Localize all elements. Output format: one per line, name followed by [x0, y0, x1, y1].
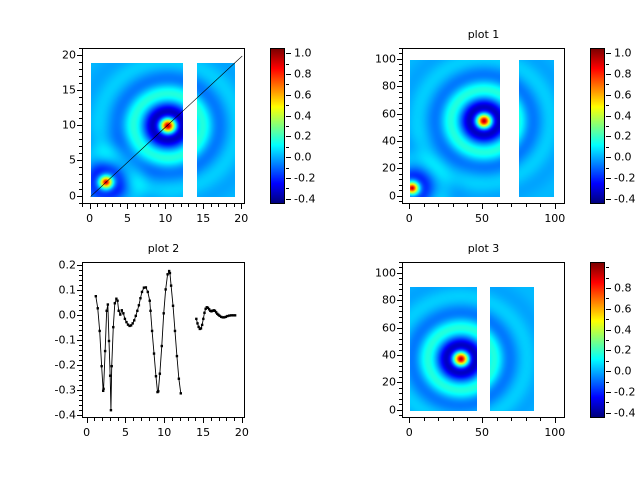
- colorbar-tick-minor: [606, 402, 609, 403]
- y-tick-minor: [79, 189, 82, 190]
- y-tick-label: 5: [40, 154, 76, 167]
- x-tick-label: 0: [86, 212, 93, 225]
- x-tick-minor: [211, 204, 212, 207]
- heatmap-panel: [91, 63, 183, 197]
- y-tick: [397, 300, 402, 301]
- x-tick: [241, 204, 242, 209]
- data-point-marker: [174, 330, 176, 332]
- colorbar-tick: [286, 116, 291, 117]
- x-tick: [555, 204, 556, 209]
- data-point-marker: [169, 272, 171, 274]
- y-tick: [77, 265, 82, 266]
- x-tick-minor: [467, 418, 468, 421]
- x-tick: [555, 418, 556, 423]
- data-point-marker: [203, 312, 205, 314]
- x-tick-minor: [105, 204, 106, 207]
- y-tick-minor: [79, 300, 82, 301]
- data-point-marker: [176, 355, 178, 357]
- x-tick-minor: [135, 204, 136, 207]
- x-tick: [87, 418, 88, 423]
- x-tick-label: 100: [544, 426, 565, 439]
- y-tick-minor: [79, 83, 82, 84]
- x-tick-minor: [453, 418, 454, 421]
- colorbar-tick-label: 0.8: [294, 68, 312, 81]
- colorbar-tick: [606, 136, 611, 137]
- x-tick: [409, 418, 410, 423]
- colorbar-tick-label: -0.4: [614, 192, 635, 205]
- colorbar-tick-minor: [606, 168, 609, 169]
- colorbar-tick-minor: [286, 84, 289, 85]
- colorbar-tick: [606, 350, 611, 351]
- y-tick-label: 40: [360, 135, 396, 148]
- x-tick-minor: [82, 204, 83, 207]
- colorbar-tick-minor: [606, 64, 609, 65]
- y-tick-minor: [399, 81, 402, 82]
- colorbar-tick: [606, 178, 611, 179]
- y-tick: [77, 365, 82, 366]
- data-point-marker: [98, 330, 100, 332]
- y-tick-minor: [399, 404, 402, 405]
- x-tick-label: 10: [157, 426, 171, 439]
- x-tick-minor: [211, 418, 212, 421]
- y-tick-minor: [79, 400, 82, 401]
- colorbar-plot1: [590, 48, 605, 204]
- x-tick-minor: [438, 204, 439, 207]
- x-tick-minor: [97, 204, 98, 207]
- y-tick-minor: [79, 153, 82, 154]
- y-tick-minor: [399, 262, 402, 263]
- y-tick-minor: [399, 108, 402, 109]
- y-tick-minor: [79, 48, 82, 49]
- data-point-marker: [178, 378, 180, 380]
- x-tick: [125, 418, 126, 423]
- y-tick-label: 20: [360, 162, 396, 175]
- y-tick-minor: [399, 393, 402, 394]
- colorbar-plot3: [590, 262, 605, 418]
- y-tick-label: 80: [360, 294, 396, 307]
- x-tick: [164, 418, 165, 423]
- x-tick-minor: [540, 418, 541, 421]
- x-tick-minor: [226, 204, 227, 207]
- x-tick-label: 5: [124, 212, 131, 225]
- y-tick-minor: [79, 325, 82, 326]
- x-tick-minor: [112, 204, 113, 207]
- y-tick-minor: [399, 333, 402, 334]
- y-tick-label: 20: [360, 376, 396, 389]
- y-tick-minor: [79, 310, 82, 311]
- colorbar-tick: [606, 116, 611, 117]
- colorbar-tick: [286, 53, 291, 54]
- y-tick-minor: [399, 371, 402, 372]
- x-tick-label: 20: [235, 426, 249, 439]
- x-tick-label: 10: [158, 212, 172, 225]
- data-point-marker: [157, 390, 159, 392]
- y-tick-label: 0: [40, 189, 76, 202]
- y-tick-minor: [399, 388, 402, 389]
- colorbar-tick-minor: [606, 382, 609, 383]
- y-tick-label: -0.4: [40, 409, 76, 422]
- heatmap-panel: [410, 60, 500, 197]
- colorbar-tick-label: 0.8: [614, 68, 632, 81]
- colorbar-tick-label: 0.4: [614, 323, 632, 336]
- y-tick-label: 60: [360, 321, 396, 334]
- colorbar-tick-label: 1.0: [614, 47, 632, 60]
- data-point-marker: [119, 313, 121, 315]
- data-point-marker: [110, 409, 112, 411]
- y-tick-minor: [399, 103, 402, 104]
- colorbar-tick-minor: [606, 105, 609, 106]
- x-tick: [90, 204, 91, 209]
- y-tick-label: 60: [360, 107, 396, 120]
- y-tick-minor: [399, 267, 402, 268]
- y-tick-minor: [399, 377, 402, 378]
- y-tick: [397, 273, 402, 274]
- y-tick-label: 0: [360, 189, 396, 202]
- colorbar-tick: [606, 74, 611, 75]
- y-tick: [77, 290, 82, 291]
- data-point-marker: [172, 305, 174, 307]
- data-point-marker: [138, 304, 140, 306]
- y-tick-minor: [79, 111, 82, 112]
- colorbar-tick: [606, 157, 611, 158]
- colorbar-tick-label: 0.4: [614, 109, 632, 122]
- x-tick-minor: [150, 204, 151, 207]
- y-tick-minor: [399, 284, 402, 285]
- y-tick-minor: [79, 69, 82, 70]
- data-point-marker: [149, 310, 151, 312]
- data-point-marker: [135, 315, 137, 317]
- y-tick-minor: [79, 275, 82, 276]
- axes-plot0: [82, 48, 245, 204]
- data-point-marker: [200, 327, 202, 329]
- colorbar-tick-label: -0.2: [294, 172, 315, 185]
- y-tick-minor: [399, 179, 402, 180]
- x-tick: [127, 204, 128, 209]
- data-point-marker: [109, 375, 111, 377]
- x-tick-minor: [181, 204, 182, 207]
- colorbar-tick: [606, 199, 611, 200]
- y-tick-minor: [399, 185, 402, 186]
- colorbar-tick-minor: [286, 126, 289, 127]
- data-point-marker: [118, 310, 120, 312]
- y-tick-minor: [79, 280, 82, 281]
- heatmap-panel: [490, 287, 534, 411]
- y-tick-label: 20: [40, 49, 76, 62]
- y-tick-minor: [79, 345, 82, 346]
- x-tick-label: 0: [406, 212, 413, 225]
- y-tick-minor: [399, 339, 402, 340]
- y-tick-minor: [399, 157, 402, 158]
- x-tick-minor: [438, 418, 439, 421]
- x-tick-label: 0: [83, 426, 90, 439]
- y-tick-minor: [399, 289, 402, 290]
- x-tick-minor: [141, 418, 142, 421]
- x-tick-minor: [234, 204, 235, 207]
- colorbar-tick-minor: [606, 126, 609, 127]
- y-tick: [397, 355, 402, 356]
- data-point-marker: [196, 322, 198, 324]
- y-tick-minor: [399, 322, 402, 323]
- colorbar-tick: [286, 157, 291, 158]
- y-tick-minor: [399, 147, 402, 148]
- x-tick-minor: [180, 418, 181, 421]
- y-tick: [77, 90, 82, 91]
- data-point-marker: [234, 314, 236, 316]
- data-point-marker: [105, 310, 107, 312]
- data-point-marker: [121, 309, 123, 311]
- data-point-marker: [125, 321, 127, 323]
- x-tick-label: 100: [544, 212, 565, 225]
- x-tick-minor: [467, 204, 468, 207]
- x-tick-minor: [511, 418, 512, 421]
- y-tick-label: 10: [40, 119, 76, 132]
- x-tick: [242, 418, 243, 423]
- y-tick: [77, 390, 82, 391]
- colorbar-tick-label: 0.0: [614, 365, 632, 378]
- y-tick-minor: [399, 190, 402, 191]
- y-tick: [397, 328, 402, 329]
- line-series-group: [83, 263, 245, 418]
- y-tick: [77, 55, 82, 56]
- y-tick-minor: [399, 92, 402, 93]
- colorbar-tick-minor: [606, 84, 609, 85]
- x-tick-label: 20: [234, 212, 248, 225]
- colorbar-tick: [286, 136, 291, 137]
- y-tick: [77, 196, 82, 197]
- data-point-marker: [153, 352, 155, 354]
- data-point-marker: [201, 324, 203, 326]
- y-tick: [397, 168, 402, 169]
- colorbar-tick: [606, 413, 611, 414]
- colorbar-tick: [606, 288, 611, 289]
- y-tick-label: -0.1: [40, 334, 76, 347]
- x-tick-minor: [157, 418, 158, 421]
- colorbar-tick-minor: [286, 147, 289, 148]
- heatmap-panel: [197, 63, 235, 197]
- y-tick-minor: [399, 119, 402, 120]
- x-tick-minor: [424, 204, 425, 207]
- x-tick-minor: [234, 418, 235, 421]
- data-point-marker: [170, 284, 172, 286]
- y-tick-label: 0.1: [40, 283, 76, 296]
- colorbar-tick-minor: [286, 168, 289, 169]
- data-point-marker: [95, 295, 97, 297]
- data-point-marker: [139, 297, 141, 299]
- colorbar-tick-minor: [286, 105, 289, 106]
- colorbar-plot0: [270, 48, 285, 204]
- data-point-marker: [104, 350, 106, 352]
- data-point-marker: [111, 365, 113, 367]
- y-tick-minor: [79, 270, 82, 271]
- y-tick: [397, 59, 402, 60]
- colorbar-tick-minor: [286, 64, 289, 65]
- colorbar-tick-label: 0.2: [614, 344, 632, 357]
- colorbar-tick-label: 1.0: [294, 47, 312, 60]
- data-point-marker: [180, 392, 182, 394]
- y-tick-minor: [399, 311, 402, 312]
- axes-plot1: [402, 48, 565, 204]
- y-tick-label: 0: [360, 403, 396, 416]
- data-point-marker: [133, 319, 135, 321]
- x-tick-minor: [94, 418, 95, 421]
- data-point-marker: [102, 388, 104, 390]
- y-tick-minor: [79, 174, 82, 175]
- x-tick-minor: [196, 204, 197, 207]
- y-tick-label: 0.0: [40, 308, 76, 321]
- colorbar-tick-minor: [286, 188, 289, 189]
- colorbar-tick: [606, 309, 611, 310]
- colorbar-tick: [606, 95, 611, 96]
- y-tick: [77, 340, 82, 341]
- colorbar-tick: [286, 95, 291, 96]
- x-tick-minor: [453, 204, 454, 207]
- colorbar-tick-minor: [606, 278, 609, 279]
- y-tick-minor: [399, 136, 402, 137]
- y-tick-minor: [399, 366, 402, 367]
- y-tick-minor: [79, 118, 82, 119]
- data-point-marker: [147, 291, 149, 293]
- x-tick-minor: [526, 204, 527, 207]
- y-tick-minor: [399, 201, 402, 202]
- colorbar-tick: [606, 392, 611, 393]
- y-tick-minor: [79, 285, 82, 286]
- x-tick: [482, 418, 483, 423]
- x-tick-label: 0: [406, 426, 413, 439]
- y-tick: [77, 415, 82, 416]
- y-tick-minor: [79, 167, 82, 168]
- y-tick-minor: [399, 97, 402, 98]
- x-tick-minor: [158, 204, 159, 207]
- x-tick-label: 5: [122, 426, 129, 439]
- colorbar-tick-minor: [606, 188, 609, 189]
- y-tick-minor: [79, 97, 82, 98]
- data-point-marker: [166, 273, 168, 275]
- data-point-marker: [107, 303, 109, 305]
- y-tick-label: -0.3: [40, 384, 76, 397]
- data-point-marker: [136, 310, 138, 312]
- colorbar-tick-label: 0.2: [294, 130, 312, 143]
- x-tick-minor: [102, 418, 103, 421]
- y-tick-minor: [399, 48, 402, 49]
- data-point-marker: [114, 302, 116, 304]
- x-tick-label: 50: [475, 212, 489, 225]
- x-tick-label: 50: [475, 426, 489, 439]
- y-tick-minor: [79, 139, 82, 140]
- x-tick-minor: [143, 204, 144, 207]
- data-point-marker: [159, 373, 161, 375]
- axes-plot2: [82, 262, 245, 418]
- colorbar-tick-label: -0.2: [614, 172, 635, 185]
- data-point-marker: [131, 322, 133, 324]
- colorbar-tick-label: 0.2: [614, 130, 632, 143]
- data-point-marker: [112, 326, 114, 328]
- y-tick-minor: [399, 399, 402, 400]
- y-tick-label: 100: [360, 52, 396, 65]
- colorbar-tick: [286, 199, 291, 200]
- plot-title-plot1: plot 1: [402, 28, 565, 41]
- y-tick-minor: [79, 335, 82, 336]
- colorbar-tick-minor: [606, 319, 609, 320]
- y-tick-minor: [399, 361, 402, 362]
- y-tick-minor: [399, 278, 402, 279]
- y-tick-minor: [79, 375, 82, 376]
- colorbar-tick-label: -0.4: [294, 192, 315, 205]
- x-tick-minor: [173, 204, 174, 207]
- y-tick-minor: [399, 174, 402, 175]
- plot-title-plot2: plot 2: [82, 242, 245, 255]
- y-tick-minor: [399, 350, 402, 351]
- x-tick-minor: [511, 204, 512, 207]
- data-point-marker: [116, 300, 118, 302]
- y-tick-minor: [79, 295, 82, 296]
- y-tick-minor: [399, 75, 402, 76]
- colorbar-tick: [286, 178, 291, 179]
- y-tick-label: 15: [40, 84, 76, 97]
- y-tick-minor: [79, 370, 82, 371]
- x-tick-minor: [120, 204, 121, 207]
- y-tick-label: 40: [360, 349, 396, 362]
- x-tick-minor: [110, 418, 111, 421]
- x-tick: [482, 204, 483, 209]
- x-tick: [409, 204, 410, 209]
- x-tick-minor: [133, 418, 134, 421]
- x-tick-minor: [195, 418, 196, 421]
- y-tick-minor: [399, 125, 402, 126]
- data-point-marker: [124, 318, 126, 320]
- x-tick-minor: [149, 418, 150, 421]
- data-point-marker: [161, 345, 163, 347]
- colorbar-tick-minor: [606, 340, 609, 341]
- y-tick-minor: [79, 405, 82, 406]
- colorbar-tick-minor: [606, 361, 609, 362]
- y-tick-minor: [399, 70, 402, 71]
- colorbar-tick: [606, 371, 611, 372]
- y-tick-minor: [79, 410, 82, 411]
- y-tick: [397, 382, 402, 383]
- y-tick-minor: [79, 320, 82, 321]
- x-tick-minor: [218, 204, 219, 207]
- plot-title-plot3: plot 3: [402, 242, 565, 255]
- y-tick: [397, 86, 402, 87]
- figure-canvas: 0510152005101520-0.4-0.20.00.20.40.60.81…: [0, 0, 640, 480]
- x-tick-label: 15: [196, 212, 210, 225]
- y-tick-label: -0.2: [40, 359, 76, 372]
- colorbar-tick: [606, 330, 611, 331]
- y-tick-minor: [79, 146, 82, 147]
- colorbar-tick: [286, 74, 291, 75]
- y-tick-minor: [399, 130, 402, 131]
- x-tick-minor: [188, 418, 189, 421]
- x-tick-minor: [497, 418, 498, 421]
- x-tick-minor: [172, 418, 173, 421]
- x-tick-minor: [540, 204, 541, 207]
- heatmap-panel: [519, 60, 554, 197]
- colorbar-tick: [606, 53, 611, 54]
- y-tick-minor: [79, 385, 82, 386]
- y-tick-minor: [79, 350, 82, 351]
- y-tick-minor: [399, 53, 402, 54]
- y-tick-minor: [79, 395, 82, 396]
- y-tick: [397, 141, 402, 142]
- y-tick: [77, 125, 82, 126]
- colorbar-tick-label: 0.6: [614, 302, 632, 315]
- y-tick-minor: [79, 62, 82, 63]
- y-tick-minor: [79, 355, 82, 356]
- y-tick-minor: [399, 152, 402, 153]
- y-tick-minor: [399, 163, 402, 164]
- x-tick-minor: [188, 204, 189, 207]
- y-tick-minor: [399, 306, 402, 307]
